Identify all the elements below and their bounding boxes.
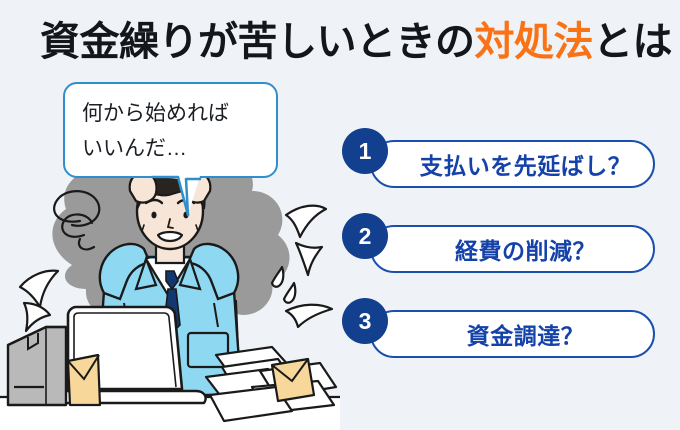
- speech-bubble: 何から始めれば いいんだ…: [63, 82, 278, 178]
- speech-bubble-line-2: いいんだ…: [82, 131, 229, 166]
- speech-bubble-tail: [150, 173, 202, 218]
- flying-papers: [286, 206, 332, 327]
- page-title-prefix: 資金繰りが苦しいときの: [40, 20, 475, 64]
- file-box: [8, 327, 66, 405]
- yellow-envelope: [68, 355, 100, 405]
- speech-bubble-line-1: 何から始めれば: [82, 96, 229, 131]
- option-pill-2[interactable]: 経費の削減？: [370, 225, 655, 273]
- option-label-3: 資金調達？: [441, 317, 585, 351]
- speech-bubble-text: 何から始めれば いいんだ…: [82, 96, 229, 166]
- option-pill-3[interactable]: 資金調達？: [370, 310, 655, 358]
- flying-paper-left: [20, 271, 58, 331]
- options-list: 支払いを先延ばし？ 1 経費の削減？ 2 資金調達？ 3: [340, 120, 670, 370]
- option-badge-2: 2: [342, 213, 388, 259]
- option-pill-1[interactable]: 支払いを先延ばし？: [370, 140, 655, 188]
- page-title-suffix: とは: [593, 20, 672, 64]
- envelope-in-stack: [272, 359, 314, 401]
- page-title-accent: 対処法: [475, 20, 594, 64]
- option-row-3[interactable]: 資金調達？ 3: [340, 310, 660, 358]
- option-label-2: 経費の削減？: [429, 232, 596, 266]
- option-label-1: 支払いを先延ばし？: [394, 147, 632, 181]
- infographic-page: 資金繰りが苦しいときの対処法とは: [0, 0, 680, 430]
- option-row-1[interactable]: 支払いを先延ばし？ 1: [340, 140, 660, 188]
- option-badge-3: 3: [342, 298, 388, 344]
- option-row-2[interactable]: 経費の削減？ 2: [340, 225, 660, 273]
- page-title: 資金繰りが苦しいときの対処法とは: [40, 17, 660, 67]
- option-badge-1: 1: [342, 128, 388, 174]
